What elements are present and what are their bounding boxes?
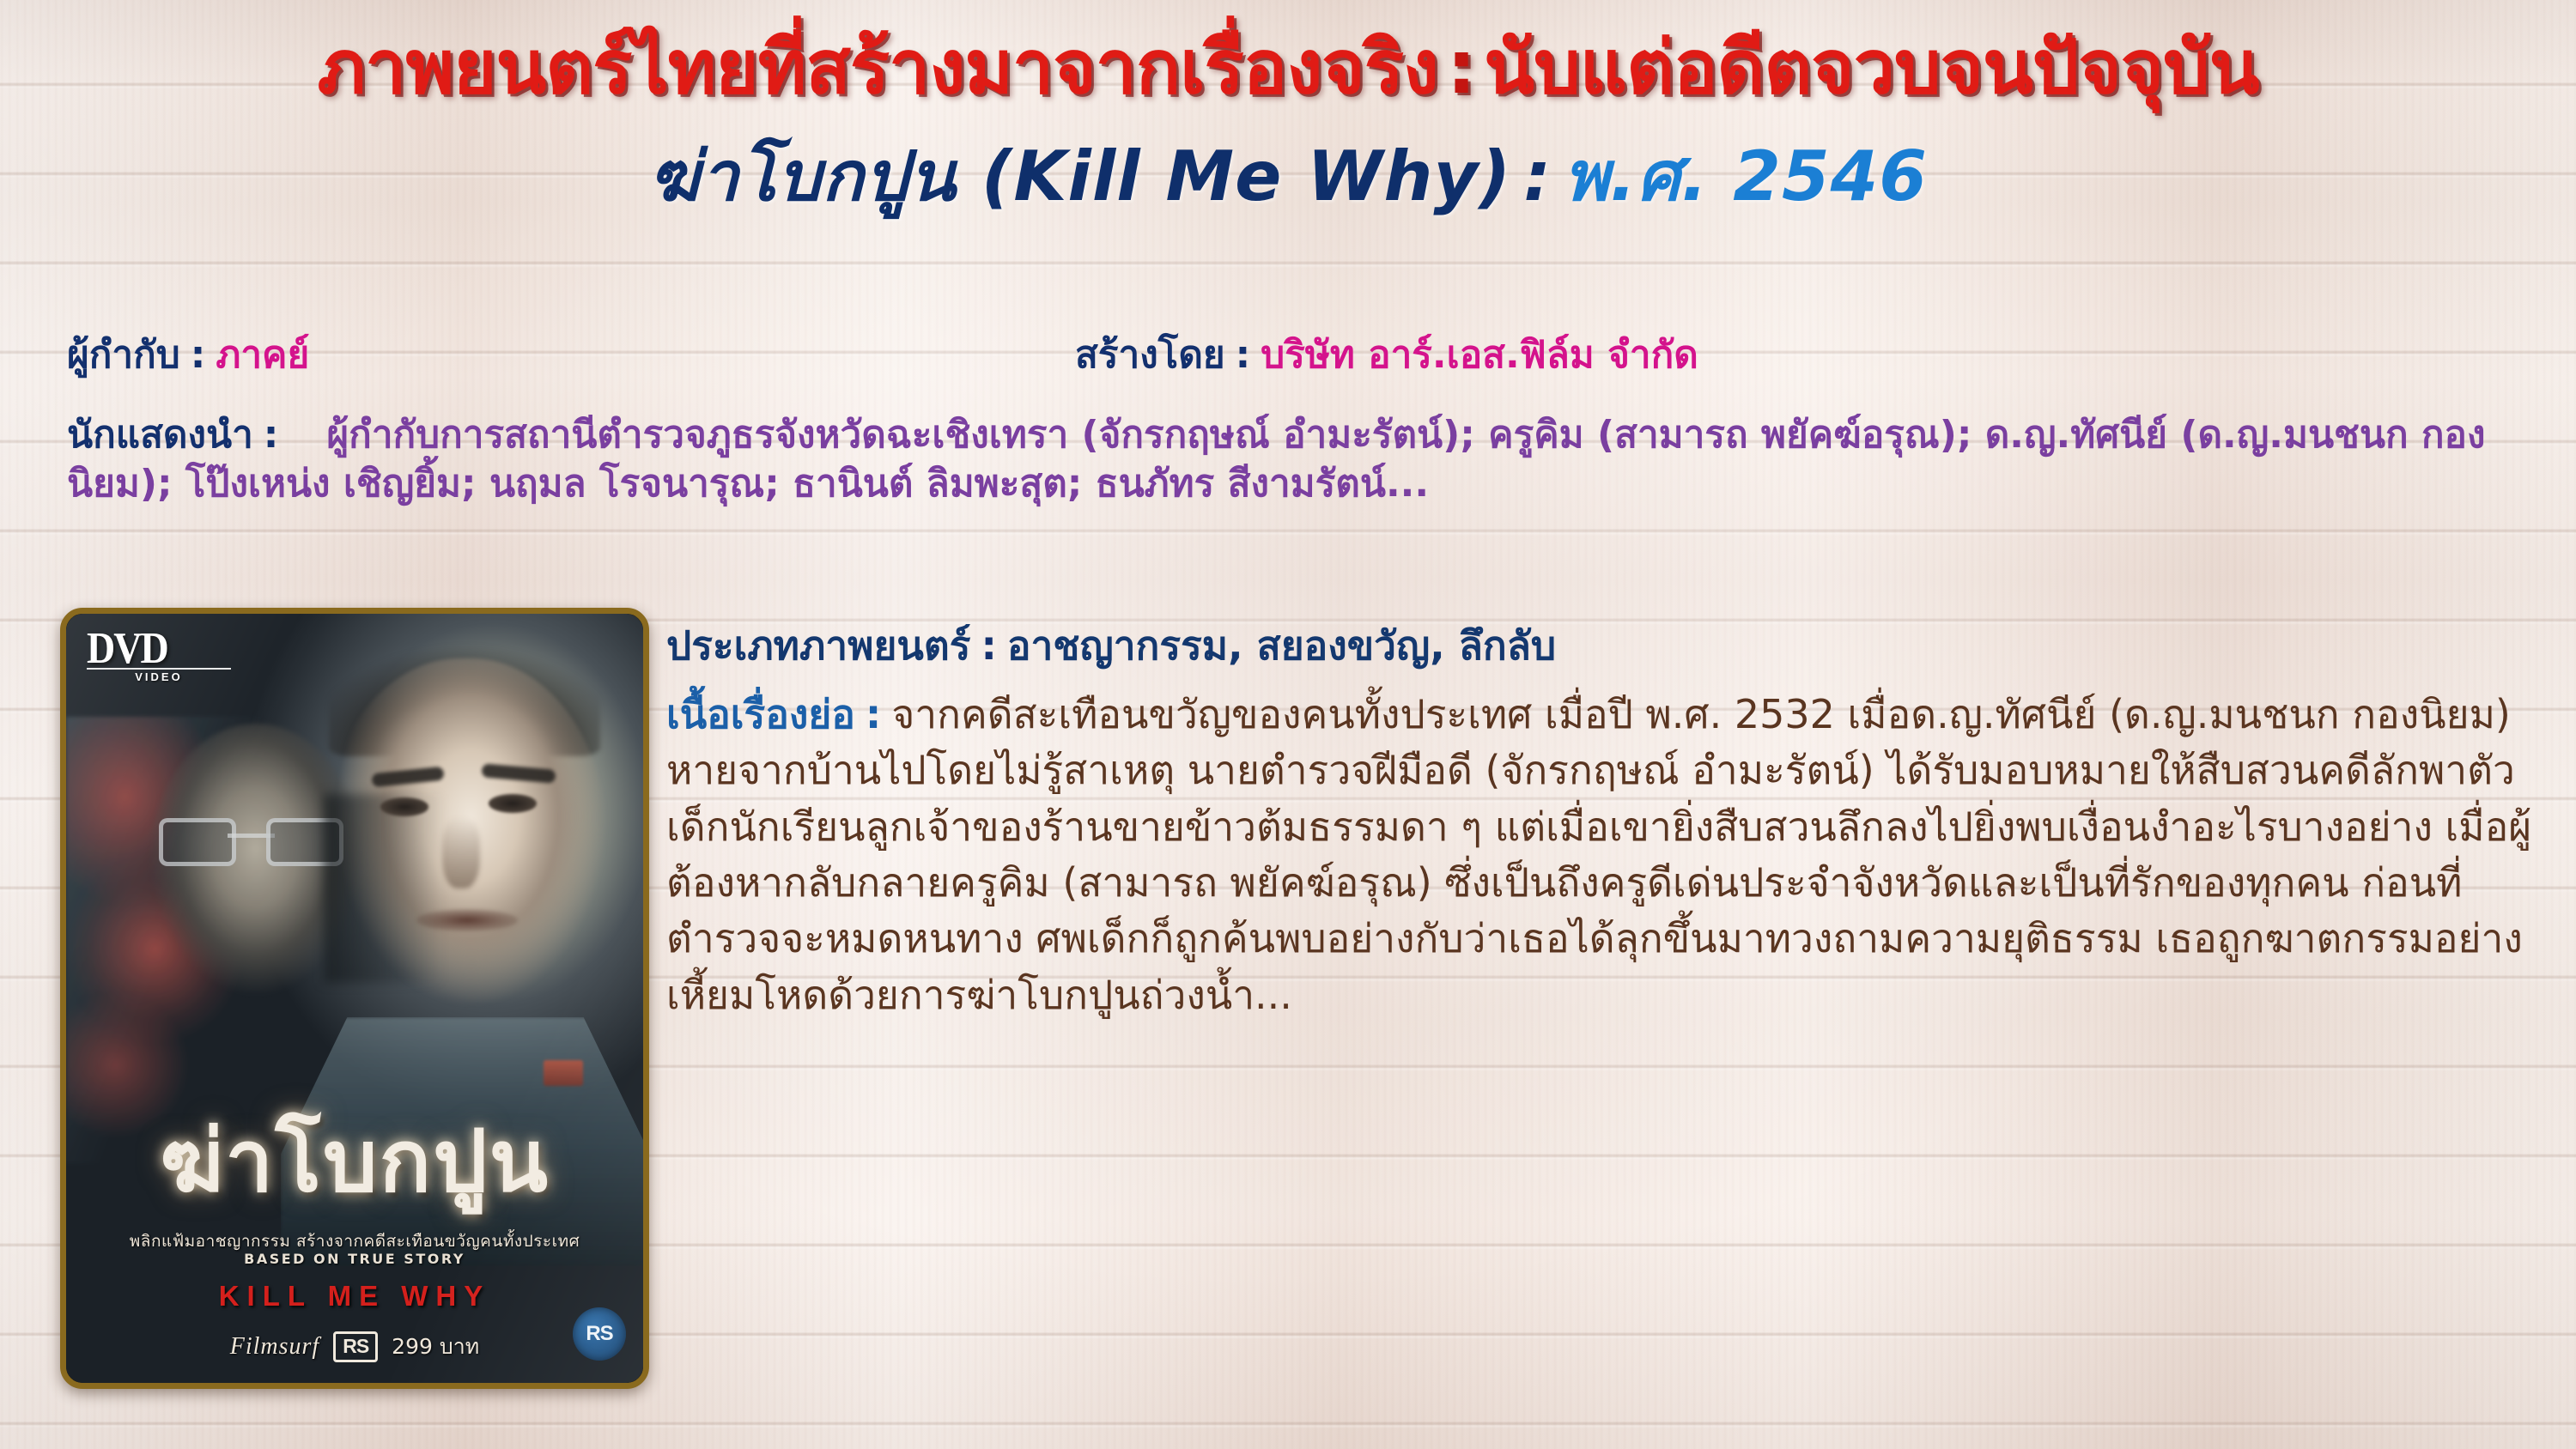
cover-nose: [442, 816, 480, 888]
genre-value: อาชญากรรม, สยองขวัญ, ลึกลับ: [1007, 622, 1556, 669]
synopsis-label: เนื้อเรื่องย่อ: [666, 691, 855, 737]
producer-value: บริษัท อาร์.เอส.ฟิล์ม จำกัด: [1261, 333, 1698, 377]
dvd-video-logo: DVD VIDEO: [87, 629, 231, 682]
movie-title-separator: :: [1511, 136, 1564, 216]
cover-price: 299 บาท: [392, 1330, 479, 1364]
dvd-cover-artwork: DVD VIDEO ฆ่าโบกปูน พลิกแฟ้มอาชญากรรม สร…: [66, 614, 643, 1383]
rs-circle-logo: RS: [573, 1307, 626, 1361]
poster-page: ภาพยนตร์ไทยที่สร้างมาจากเรื่องจริง:นับแต…: [0, 0, 2576, 1449]
genre-label: ประเภทภาพยนตร์: [666, 622, 970, 669]
glasses-icon: [159, 818, 343, 858]
page-title: ภาพยนตร์ไทยที่สร้างมาจากเรื่องจริง:นับแต…: [317, 31, 2258, 106]
producer-label: สร้างโดย: [1075, 333, 1225, 377]
synopsis-colon: :: [855, 691, 891, 737]
synopsis-text: จากคดีสะเทือนขวัญของคนทั้งประเทศ เมื่อปี…: [666, 691, 2531, 1018]
cast-label: นักแสดงนำ: [67, 413, 253, 457]
dvd-logo-main: DVD: [87, 627, 231, 669]
movie-subtitle: ฆ่าโบกปูน (Kill Me Why):พ.ศ. 2546: [0, 122, 2576, 231]
cast-colon: :: [253, 413, 289, 457]
cover-eye-right: [489, 794, 537, 813]
director-row: ผู้กำกับ:ภาคย์: [67, 324, 309, 385]
movie-title-line: ฆ่าโบกปูน (Kill Me Why):พ.ศ. 2546: [648, 122, 1928, 231]
cover-face-shadow: [324, 794, 444, 983]
director-label: ผู้กำกับ: [67, 333, 180, 377]
movie-year: พ.ศ. 2546: [1564, 136, 1928, 216]
director-colon: :: [180, 333, 216, 377]
synopsis-block: เนื้อเรื่องย่อ:จากคดีสะเทือนขวัญของคนทั้…: [666, 687, 2547, 1023]
cover-footer: Filmsurf RS 299 บาท: [66, 1330, 643, 1364]
cover-uniform-badge: [544, 1060, 583, 1086]
cover-distributor: Filmsurf: [230, 1333, 319, 1361]
cover-thai-title: ฆ่าโบกปูน: [66, 1119, 643, 1204]
cover-mouth: [416, 909, 518, 931]
page-title-main: ภาพยนตร์ไทยที่สร้างมาจากเรื่องจริง: [317, 25, 1437, 111]
genre-colon: :: [970, 622, 1006, 669]
cast-row: นักแสดงนำ:ผู้กำกับการสถานีตำรวจภูธรจังหว…: [67, 410, 2514, 508]
producer-colon: :: [1225, 333, 1261, 377]
movie-title: ฆ่าโบกปูน (Kill Me Why): [648, 136, 1511, 216]
genre-row: ประเภทภาพยนตร์:อาชญากรรม, สยองขวัญ, ลึกล…: [666, 615, 1556, 677]
cast-value: ผู้กำกับการสถานีตำรวจภูธรจังหวัดฉะเชิงเท…: [67, 413, 2485, 506]
cover-eye-left: [380, 797, 428, 816]
cover-based-on-true-story: BASED ON TRUE STORY: [66, 1251, 643, 1267]
director-value: ภาคย์: [216, 333, 309, 377]
cover-english-title: KILL ME WHY: [66, 1280, 643, 1313]
page-header: ภาพยนตร์ไทยที่สร้างมาจากเรื่องจริง:นับแต…: [0, 31, 2576, 106]
page-title-separator: :: [1438, 25, 1484, 111]
dvd-cover[interactable]: DVD VIDEO ฆ่าโบกปูน พลิกแฟ้มอาชญากรรม สร…: [60, 608, 649, 1389]
cover-label-box: RS: [333, 1331, 378, 1362]
page-title-tail: นับแต่อดีตจวบจนปัจจุบัน: [1484, 25, 2258, 111]
producer-row: สร้างโดย:บริษัท อาร์.เอส.ฟิล์ม จำกัด: [1075, 324, 1698, 385]
